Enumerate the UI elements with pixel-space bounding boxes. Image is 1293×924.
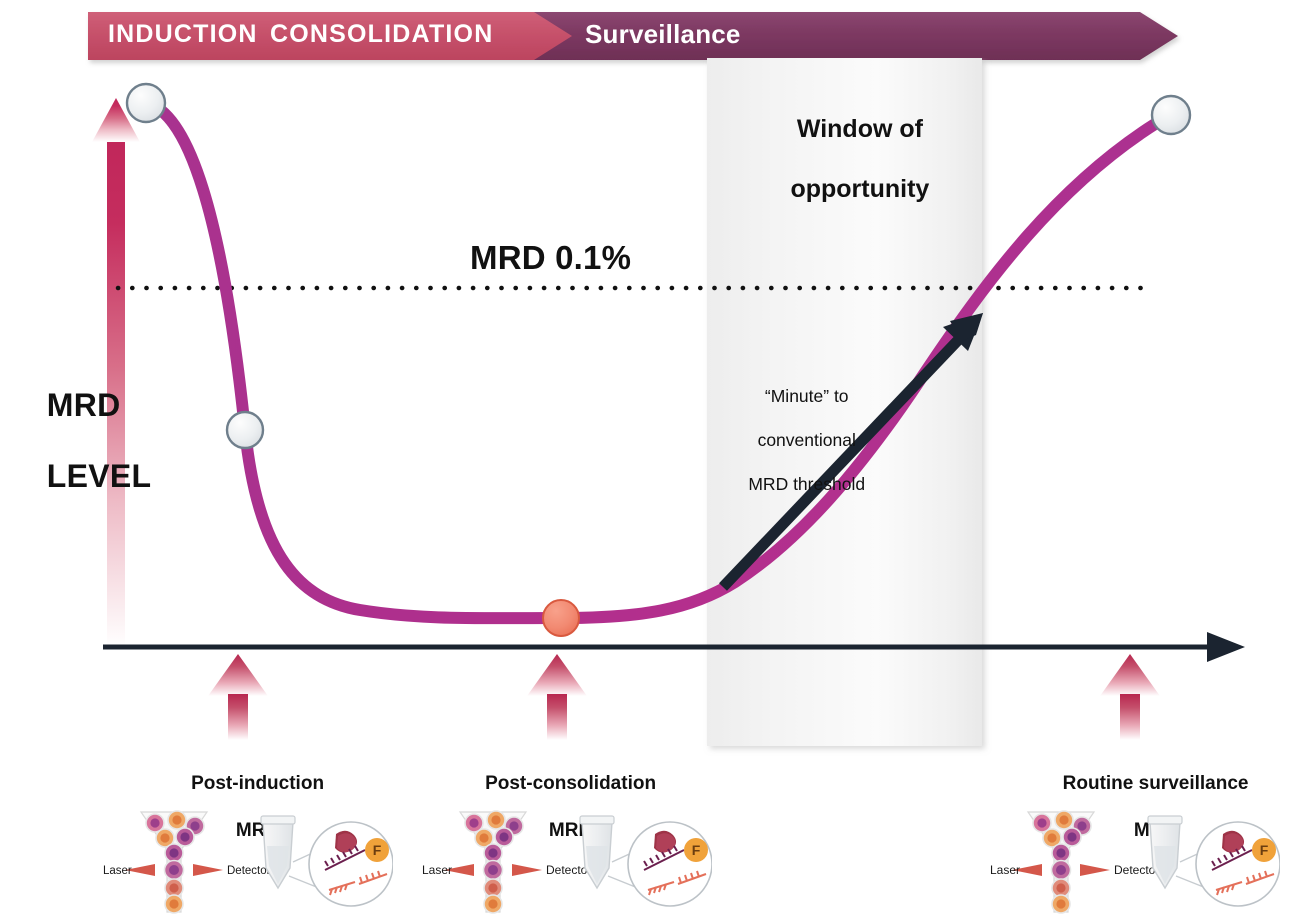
caption-line1: Post-induction (191, 773, 324, 794)
detector-arrow (512, 864, 542, 876)
marker-baseline (127, 84, 165, 122)
flow-cells (146, 811, 204, 913)
timepoint-arrow-post-induction (208, 654, 268, 740)
caption-line1: Post-consolidation (485, 773, 656, 794)
laser-label: Laser (990, 863, 1020, 877)
annotation-line3: MRD threshold (748, 474, 865, 494)
marker-post-consolidation (543, 600, 579, 636)
timepoint-arrows (0, 650, 1293, 760)
annotation-line1: “Minute” to (765, 386, 849, 406)
detector-arrow (193, 864, 223, 876)
marker-routine-surveillance (1152, 96, 1190, 134)
mrd-kinetics-figure: INDUCTION CONSOLIDATION Surveillance Win… (0, 0, 1293, 924)
fluorophore-label: F (692, 842, 701, 858)
detector-label: Detector (227, 865, 271, 877)
timepoint-arrow-post-consolidation (527, 654, 587, 740)
timepoint-arrow-routine-surveillance (1100, 654, 1160, 740)
assay-icon-routine-surveillance: Laser Detector (990, 806, 1280, 918)
assay-icon-post-consolidation: Laser Detector (422, 806, 712, 918)
laser-label: Laser (103, 865, 132, 877)
mrd-curve (150, 104, 1168, 618)
caption-line1: Routine surveillance (1063, 773, 1249, 794)
minute-to-threshold-annotation: “Minute” to conventional MRD threshold (722, 363, 872, 517)
detector-arrow (1080, 864, 1110, 876)
mrd-threshold-label: MRD 0.1% (470, 239, 631, 277)
annotation-line2: conventional (758, 430, 856, 450)
assay-icon-post-induction: Laser Detector (103, 806, 393, 918)
flow-cytometer-glyph: Laser Detector (103, 811, 271, 913)
fluorophore-label: F (373, 842, 382, 858)
laser-label: Laser (422, 863, 452, 877)
marker-post-induction (227, 412, 263, 448)
tube-and-sequencing-glyph: F (261, 816, 393, 906)
fluorophore-label: F (1260, 842, 1269, 858)
